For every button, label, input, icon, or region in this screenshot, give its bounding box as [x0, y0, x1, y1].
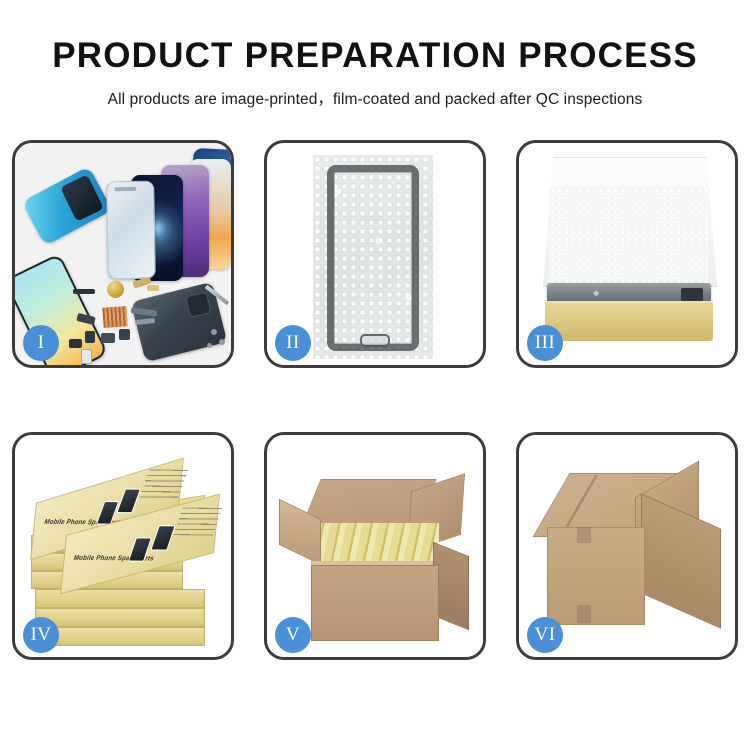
spare-part-icon — [81, 349, 92, 364]
step-badge-2: II — [275, 325, 311, 361]
box-phone-graphic — [150, 525, 176, 551]
foam-lining-icon — [549, 187, 709, 285]
screen-glass-protector-icon — [106, 181, 156, 280]
spare-part-icon — [73, 289, 95, 294]
step-badge-4: IV — [23, 617, 59, 653]
screw-part-icon — [211, 329, 217, 335]
screw-part-icon — [207, 343, 212, 348]
step-badge-1: I — [23, 325, 59, 361]
spare-part-icon — [85, 331, 95, 343]
carton-front-panel — [311, 565, 439, 641]
step-panel-5[interactable]: V — [264, 432, 486, 660]
spare-part-icon — [119, 329, 130, 340]
stacked-box — [35, 608, 205, 627]
screw-part-icon — [219, 339, 225, 345]
phone-screen-cyan-icon — [22, 166, 113, 246]
carton-tape-mark — [577, 605, 591, 623]
box-phone-graphic — [116, 488, 141, 513]
page-title: PRODUCT PREPARATION PROCESS — [0, 0, 750, 76]
step-panel-1[interactable]: I — [12, 140, 234, 368]
step-panel-2[interactable]: II — [264, 140, 486, 368]
step-badge-6: VI — [527, 617, 563, 653]
step-panel-3[interactable]: III — [516, 140, 738, 368]
box-spec-lines — [173, 508, 222, 536]
page-subtitle: All products are image-printed，film-coat… — [0, 76, 750, 109]
box-spec-lines — [139, 469, 188, 497]
carton-tape-mark — [577, 527, 591, 543]
step-badge-3: III — [527, 325, 563, 361]
carton-front-panel — [547, 527, 645, 625]
step-badge-5: V — [275, 617, 311, 653]
carton-side-panel — [641, 493, 721, 629]
spare-part-icon — [101, 333, 115, 343]
bubble-wrapped-screen-icon — [313, 155, 433, 359]
spare-part-icon — [69, 339, 82, 348]
stacked-box — [35, 627, 205, 646]
spare-part-icon — [147, 285, 159, 291]
step-panel-6[interactable]: VI — [516, 432, 738, 660]
home-button-icon — [360, 334, 390, 347]
copper-grid-part-icon — [102, 306, 127, 328]
kraft-box-body-icon — [545, 303, 713, 341]
page-header: PRODUCT PREPARATION PROCESS All products… — [0, 0, 750, 109]
process-steps-grid: I II III — [12, 140, 738, 660]
screen-bezel-outline — [327, 165, 419, 351]
gold-coil-part-icon — [107, 281, 124, 298]
step-panel-4[interactable]: Mobile Phone Spare Parts Mobile Phone Sp… — [12, 432, 234, 660]
